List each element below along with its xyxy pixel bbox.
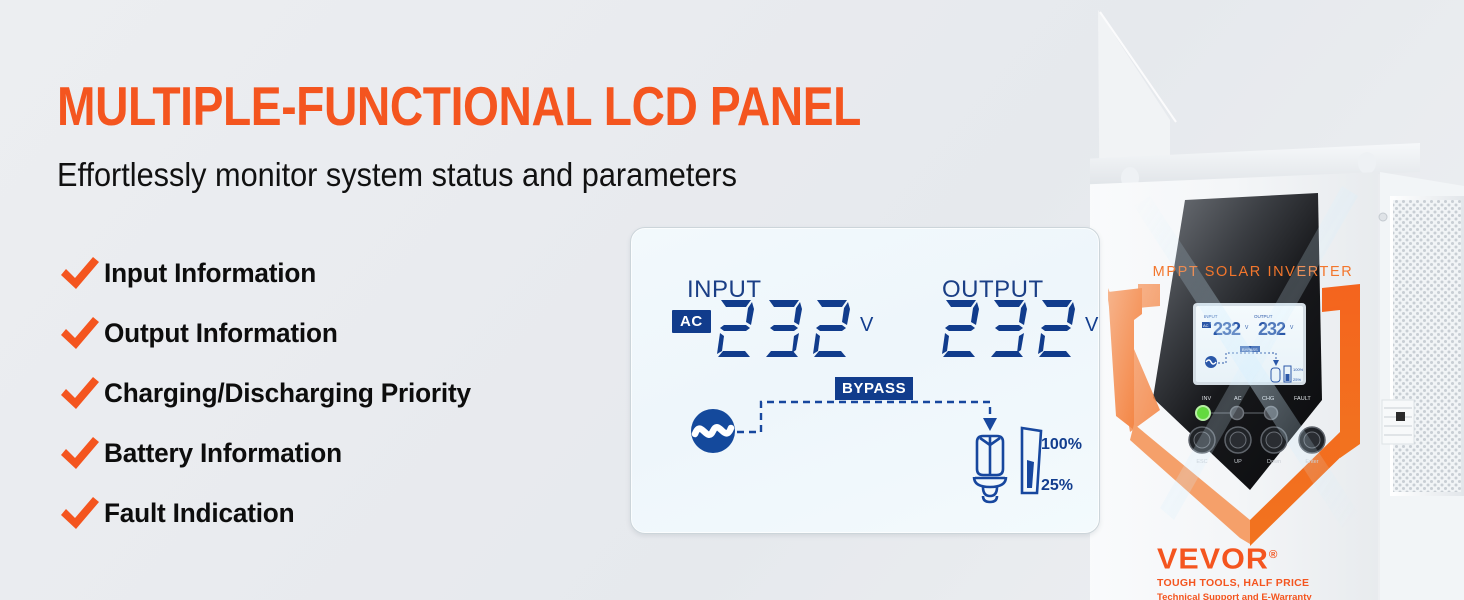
- lcd-panel-card: INPUT OUTPUT AC: [630, 227, 1100, 534]
- load-level-fill: [1027, 460, 1034, 488]
- led-inv: [1196, 406, 1210, 420]
- svg-text:AC: AC: [1203, 323, 1209, 328]
- feature-list: Input Information Output Information Cha…: [58, 243, 482, 543]
- feature-label: Battery Information: [104, 438, 342, 469]
- list-item: Fault Indication: [58, 483, 482, 543]
- flow-path: [737, 402, 990, 432]
- product-photo: MPPT SOLAR INVERTER INPUT OUTPUT AC 232 …: [1090, 0, 1464, 600]
- list-item: Output Information: [58, 303, 482, 363]
- check-icon: [58, 313, 104, 353]
- load-25-label: 25%: [1041, 477, 1073, 495]
- svg-text:FAULT: FAULT: [1294, 396, 1311, 402]
- check-icon: [58, 433, 104, 473]
- feature-label: Charging/Discharging Priority: [104, 378, 471, 409]
- spec-label: [1382, 400, 1414, 444]
- svg-text:25%: 25%: [1293, 377, 1301, 382]
- list-item: Charging/Discharging Priority: [58, 363, 482, 423]
- svg-text:INV: INV: [1202, 396, 1212, 402]
- brand-name: VEVOR®: [1157, 541, 1323, 575]
- check-icon: [58, 493, 104, 533]
- brand-tagline: TOUGH TOOLS, HALF PRICE: [1157, 577, 1316, 589]
- list-item: Battery Information: [58, 423, 482, 483]
- ventilation-grille: [1393, 200, 1461, 492]
- list-item: Input Information: [58, 243, 482, 303]
- ac-sine-wave-icon: [691, 409, 735, 453]
- light-bulb-icon: [974, 436, 1006, 502]
- feature-label: Fault Indication: [104, 498, 294, 529]
- check-icon: [58, 373, 104, 413]
- power-flow-diagram: [631, 228, 1101, 535]
- load-100-label: 100%: [1041, 436, 1082, 454]
- brand-support-line1: Technical Support and E-Warranty: [1157, 592, 1316, 600]
- down-arrow-icon: [983, 418, 997, 431]
- svg-text:UP: UP: [1234, 459, 1242, 465]
- page-title: MULTIPLE-FUNCTIONAL LCD PANEL: [57, 78, 861, 134]
- brand-name-text: VEVOR: [1157, 544, 1269, 576]
- check-icon: [58, 253, 104, 293]
- feature-label: Output Information: [104, 318, 338, 349]
- registered-mark: ®: [1269, 549, 1279, 561]
- page-subtitle: Effortlessly monitor system status and p…: [57, 155, 737, 195]
- svg-text:100%: 100%: [1293, 367, 1304, 372]
- vevor-logo: VEVOR® TOUGH TOOLS, HALF PRICE Technical…: [1157, 541, 1316, 600]
- svg-text:Down: Down: [1267, 459, 1281, 465]
- product-illustration: MPPT SOLAR INVERTER INPUT OUTPUT AC 232 …: [1090, 0, 1464, 600]
- load-level-bar: [1022, 428, 1041, 493]
- feature-label: Input Information: [104, 258, 316, 289]
